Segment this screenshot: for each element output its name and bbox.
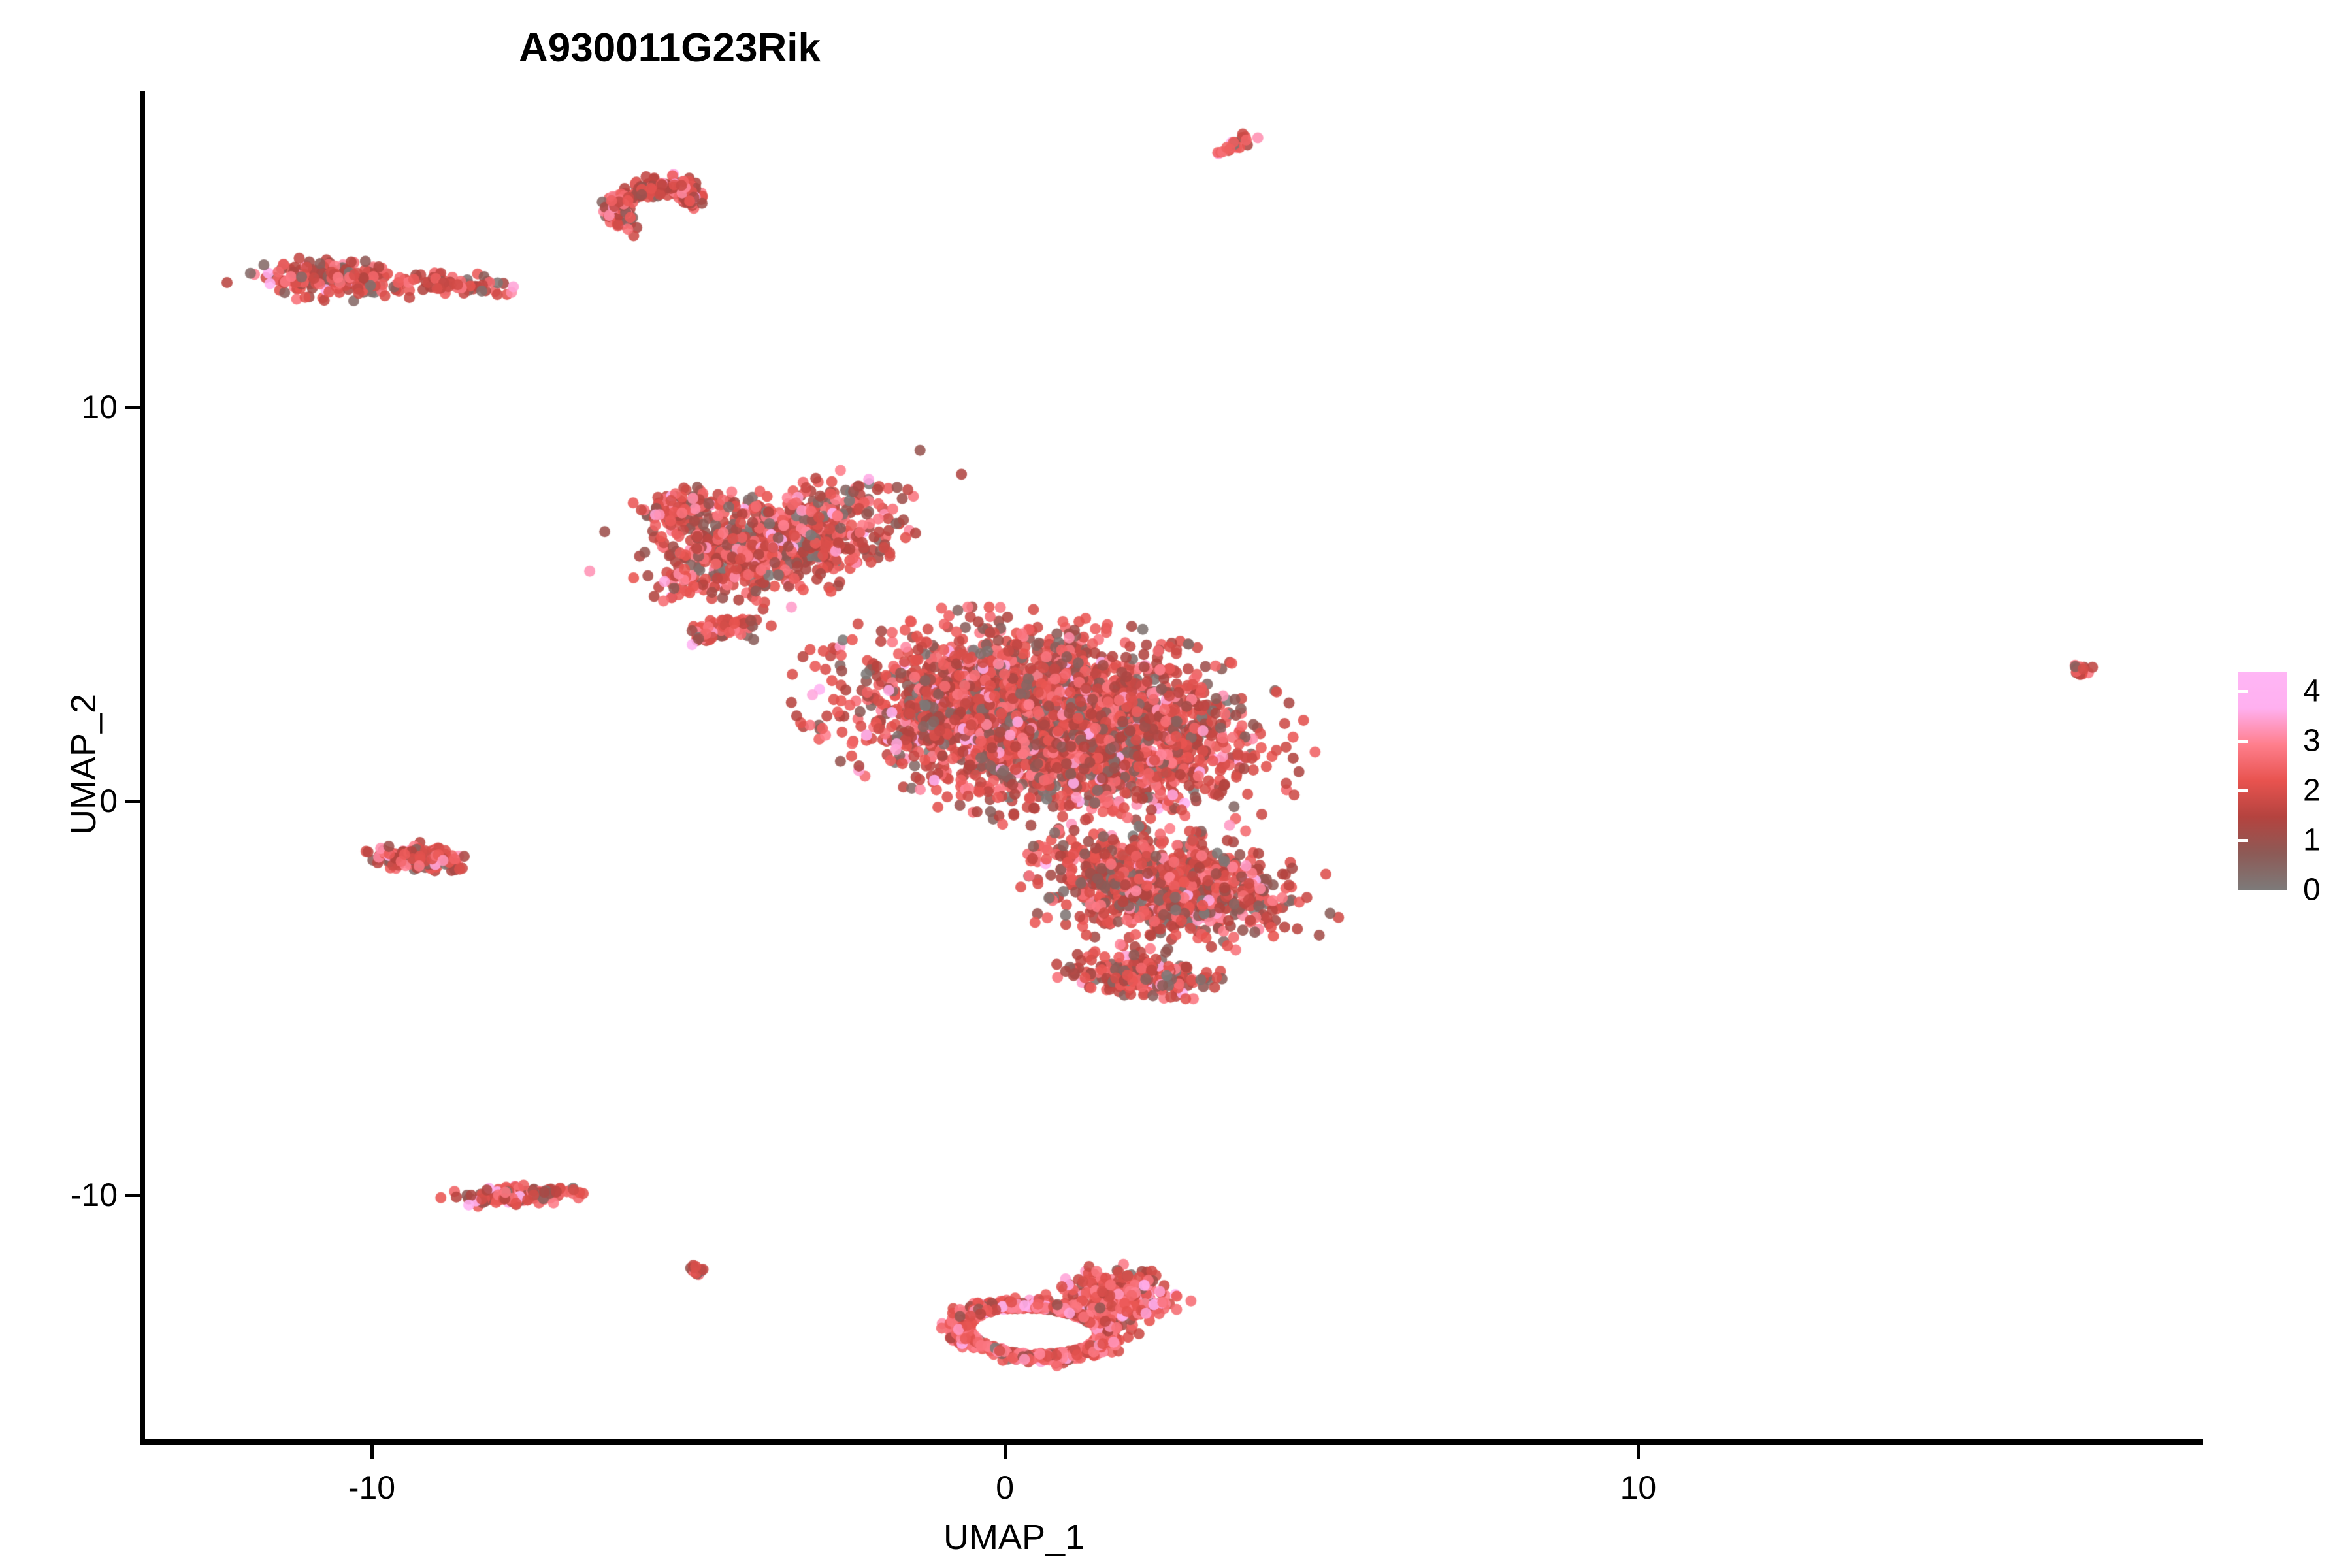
y-axis-line — [140, 91, 145, 1444]
colorbar-tick-mark — [2238, 690, 2248, 693]
umap-feature-plot: A930011G23Rik -10010 -10010 UMAP_1 UMAP_… — [0, 0, 2352, 1568]
colorbar-gradient — [2238, 672, 2287, 890]
x-tick-mark — [1637, 1445, 1640, 1459]
colorbar-tick-mark — [2325, 740, 2336, 743]
x-tick-label: 10 — [1620, 1469, 1657, 1507]
y-tick-label: -10 — [71, 1176, 118, 1214]
x-axis-line — [140, 1439, 2203, 1445]
colorbar-tick-mark — [2238, 839, 2248, 842]
colorbar-tick-mark — [2325, 789, 2336, 792]
x-tick-mark — [1004, 1445, 1007, 1459]
x-axis-title: UMAP_1 — [943, 1517, 1085, 1558]
colorbar-tick-label: 1 — [2303, 823, 2321, 858]
x-tick-label: -10 — [348, 1469, 395, 1507]
y-tick-mark — [125, 406, 140, 409]
colorbar-legend: 01234 — [2238, 672, 2336, 894]
y-axis-title: UMAP_2 — [63, 694, 104, 835]
page-title: A930011G23Rik — [0, 25, 1339, 71]
colorbar-tick-mark — [2238, 789, 2248, 792]
colorbar-tick-mark — [2325, 839, 2336, 842]
colorbar-tick-label: 4 — [2303, 674, 2321, 710]
colorbar-tick-label: 0 — [2303, 872, 2321, 908]
colorbar-tick-label: 2 — [2303, 773, 2321, 809]
y-tick-label: 10 — [81, 388, 118, 426]
scatter-points-layer — [144, 91, 2202, 1439]
x-tick-mark — [370, 1445, 374, 1459]
x-tick-label: 0 — [996, 1469, 1014, 1507]
y-tick-mark — [125, 1194, 140, 1197]
plot-panel — [144, 91, 2202, 1439]
y-tick-mark — [125, 800, 140, 803]
colorbar-tick-mark — [2325, 690, 2336, 693]
colorbar-tick-mark — [2238, 740, 2248, 743]
colorbar-tick-label: 3 — [2303, 723, 2321, 759]
